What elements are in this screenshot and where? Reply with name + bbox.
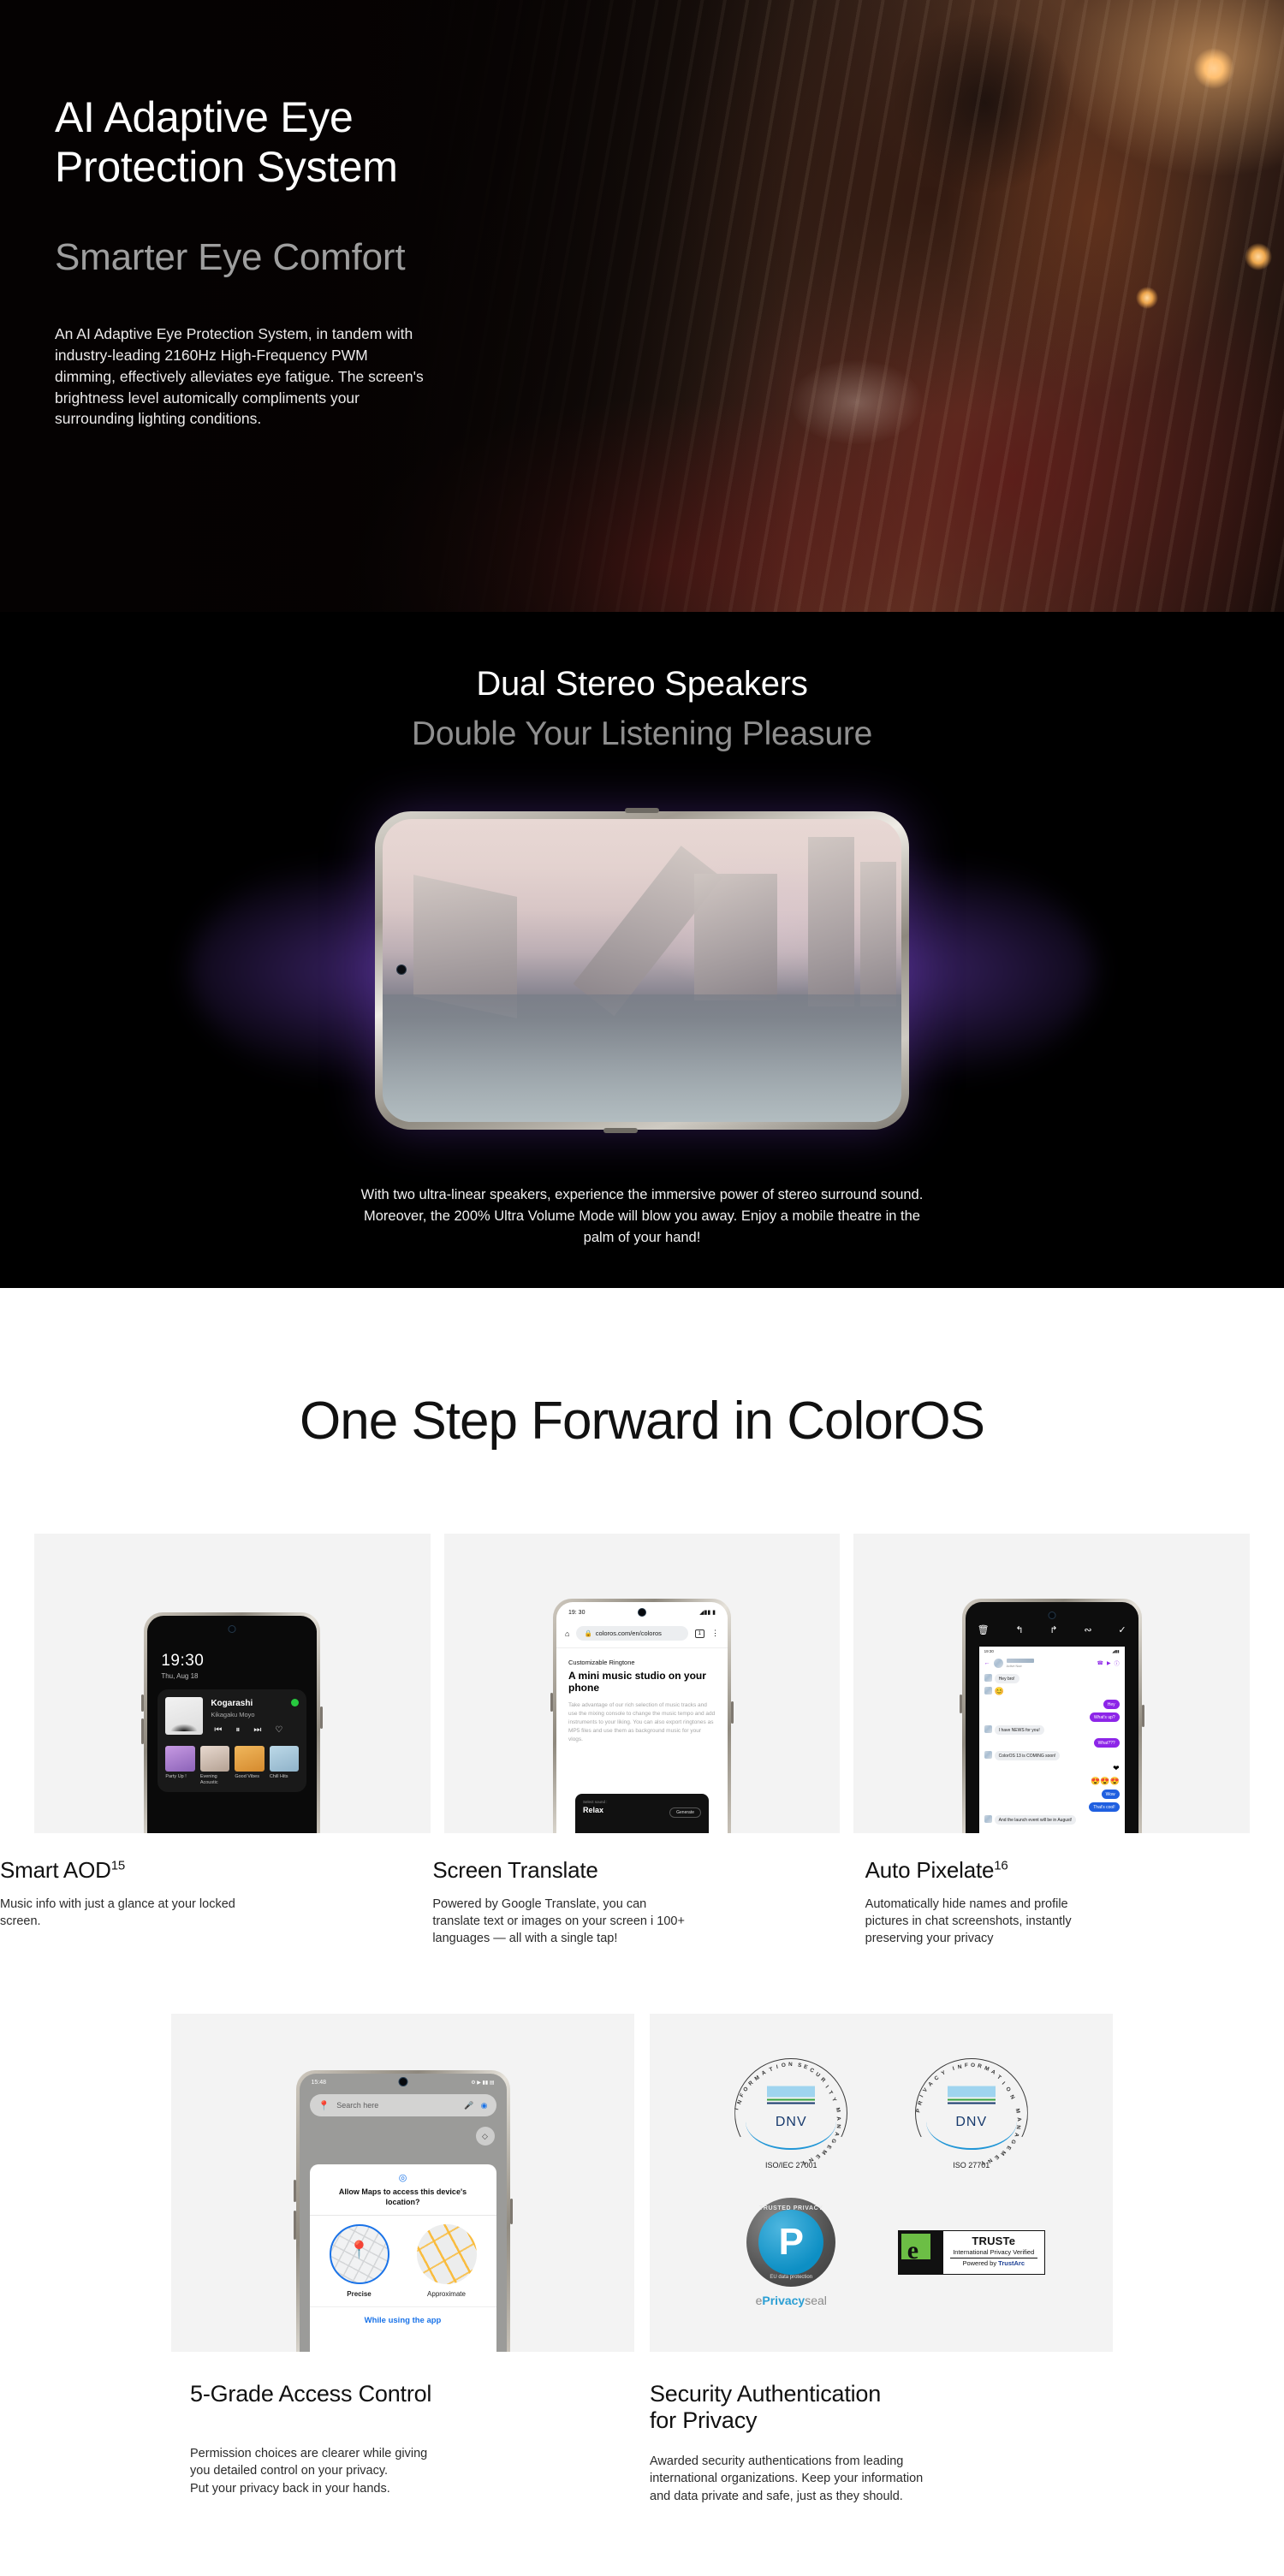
aod-phone-mockup: 19:30 Thu, Aug 18 Kogarashi Kikagaku Moy… xyxy=(144,1612,320,1833)
caption-auto-pixelate: Auto Pixelate16 Automatically hide names… xyxy=(865,1857,1284,1947)
browser-toolbar[interactable]: ⌂ 🔒 coloros.com/en/coloros 1 ⋮ xyxy=(556,1623,728,1647)
playlist-tile[interactable]: Good Vibes xyxy=(235,1746,265,1786)
phone-volume-button xyxy=(141,1718,144,1744)
account-avatar-icon[interactable]: ◉ xyxy=(481,2101,488,2110)
phone-side-button xyxy=(294,2180,296,2202)
dnv-wordmark: DNV xyxy=(955,2115,987,2130)
dnv-standard-label: ISO/IEC 27001 xyxy=(765,2161,817,2169)
delete-icon[interactable]: 🗑 xyxy=(978,1624,990,1635)
caption-footnote-marker: 15 xyxy=(111,1858,125,1873)
speakers-phone-stage xyxy=(0,791,1284,1150)
next-track-icon[interactable]: ⏭ xyxy=(253,1725,261,1735)
screenshot-editor-toolbar[interactable]: 🗑 ↰ ↱ ∾ ✓ xyxy=(966,1624,1138,1635)
powered-label: Powered by xyxy=(962,2259,998,2267)
speakers-subheading: Double Your Listening Pleasure xyxy=(0,715,1284,753)
aod-phone-screen: 19:30 Thu, Aug 18 Kogarashi Kikagaku Moy… xyxy=(147,1616,317,1833)
contact-name-block: Active Now xyxy=(1007,1659,1094,1668)
ringtone-panel[interactable]: Select sound : Relax Generate xyxy=(575,1794,709,1833)
feature-card-smart-aod[interactable]: 19:30 Thu, Aug 18 Kogarashi Kikagaku Moy… xyxy=(34,1534,431,1833)
playlist-label: Good Vibes xyxy=(235,1774,265,1780)
feature-card-row-top: 19:30 Thu, Aug 18 Kogarashi Kikagaku Moy… xyxy=(0,1534,1284,1833)
badge-ring xyxy=(734,2058,847,2168)
chat-message-row: ❤ xyxy=(984,1764,1120,1773)
caption-text: Awarded security authentications from le… xyxy=(650,2453,1113,2505)
game-water-reflection xyxy=(383,994,901,1122)
phone-side-button xyxy=(141,1695,144,1712)
front-camera-icon xyxy=(638,1608,646,1617)
map-layers-icon[interactable]: ◇ xyxy=(476,2127,495,2146)
url-text: coloros.com/en/coloros xyxy=(596,1629,662,1637)
caption-access-control: 5-Grade Access Control Permission choice… xyxy=(171,2381,634,2505)
favorite-heart-icon[interactable]: ♡ xyxy=(275,1725,282,1735)
previous-track-icon[interactable]: ⏮ xyxy=(214,1725,222,1735)
badge-eprivacy-seal: TRUSTED PRIVACY P EU data protection ePr… xyxy=(735,2198,847,2307)
status-icons: ◢▮▮ ▮ xyxy=(699,1609,716,1616)
dnv-standard-label: ISO 27701 xyxy=(953,2161,990,2169)
truste-subtitle: International Privacy Verified xyxy=(943,2248,1044,2256)
eprivacy-letter-p-icon: P xyxy=(746,2223,835,2261)
caption-text: Automatically hide names and profile pic… xyxy=(865,1896,1274,1947)
undo-icon[interactable]: ↰ xyxy=(1015,1624,1023,1635)
chat-message-row: And the launch event will be in August! xyxy=(984,1815,1120,1825)
chat-bubble-incoming: Hey bro! xyxy=(995,1674,1019,1683)
maps-search-bar[interactable]: 📍 Search here 🎤 ◉ xyxy=(310,2094,496,2116)
phone-screen-game xyxy=(383,819,901,1122)
maps-phone-screen: 15:48 ⚙ ▶ ▮▮ ▤ 📍 Search here 🎤 ◉ ◇ ◎ All… xyxy=(300,2074,507,2352)
chat-bubble-incoming: ColorOS 13 is COMING soon! xyxy=(995,1751,1061,1760)
powered-brand: TrustArc xyxy=(998,2259,1025,2267)
eye-protection-copy: AI Adaptive Eye Protection System Smarte… xyxy=(55,92,586,430)
truste-e-logo-icon xyxy=(899,2231,943,2274)
punch-hole-camera-icon xyxy=(396,965,407,975)
page-paragraph: Take advantage of our rich selection of … xyxy=(568,1701,716,1744)
truste-text-block: TRUSTe International Privacy Verified Po… xyxy=(943,2231,1044,2274)
chat-message-row: 😍😍😍 xyxy=(984,1777,1120,1786)
eprivacy-name-bold: Privacy xyxy=(762,2294,805,2307)
status-bar: 19: 30 ◢▮▮ ▮ xyxy=(556,1602,728,1623)
caption-text: Powered by Google Translate, you can tra… xyxy=(432,1896,841,1947)
certification-badge-grid: DNV ISO/IEC 27001 I N F O R M A T I O N xyxy=(650,2014,1113,2352)
option-label: Approximate xyxy=(409,2290,484,2298)
feature-card-screen-translate[interactable]: 19: 30 ◢▮▮ ▮ ⌂ 🔒 coloros.com/en/coloros … xyxy=(444,1534,841,1833)
ringtone-panel-label: Select sound : xyxy=(583,1800,701,1804)
caption-screen-translate: Screen Translate Powered by Google Trans… xyxy=(432,1857,851,1947)
sender-avatar-blurred xyxy=(984,1725,992,1733)
landscape-phone-mockup xyxy=(375,811,909,1130)
approximate-map-preview xyxy=(417,2224,477,2284)
badge-dnv-iso-27701: DNV ISO 27701 P R I V A C Y I N F O xyxy=(915,2058,1028,2168)
aod-music-widget[interactable]: Kogarashi Kikagaku Moyo ⏮ ⏸ ⏭ ♡ xyxy=(158,1689,306,1792)
badge-dnv-iso-27001: DNV ISO/IEC 27001 I N F O R M A T I O N xyxy=(734,2058,847,2168)
phone-button-top xyxy=(625,808,659,813)
eprivacy-name-suffix: seal xyxy=(805,2294,827,2307)
chat-message-row: Wow xyxy=(984,1790,1120,1799)
page-kicker: Customizable Ringtone xyxy=(568,1659,716,1666)
page-headline: A mini music studio on your phone xyxy=(568,1670,716,1695)
chat-status-time: 19:30 xyxy=(984,1649,994,1653)
phone-power-button xyxy=(320,1706,323,1729)
option-precise[interactable]: 📍 Precise xyxy=(322,2224,397,2298)
precise-map-preview: 📍 xyxy=(330,2224,389,2284)
video-call-icon[interactable]: ▶ xyxy=(1107,1660,1111,1666)
playlist-label: Evening Acoustic xyxy=(200,1774,230,1786)
aod-playback-controls[interactable]: ⏮ ⏸ ⏭ ♡ xyxy=(214,1725,282,1735)
home-icon[interactable]: ⌂ xyxy=(565,1629,569,1638)
speakers-body: With two ultra-linear speakers, experien… xyxy=(231,1184,1053,1248)
aod-date: Thu, Aug 18 xyxy=(161,1672,198,1680)
chat-bubble-outgoing: Wow xyxy=(1102,1790,1120,1799)
playlist-label: Party Up ! xyxy=(165,1774,195,1780)
confirm-check-icon[interactable]: ✓ xyxy=(1118,1624,1126,1635)
while-using-app-button[interactable]: While using the app xyxy=(310,2306,496,2334)
info-icon[interactable]: ⓘ xyxy=(1115,1659,1120,1667)
badge-truste: TRUSTe International Privacy Verified Po… xyxy=(898,2230,1045,2275)
share-icon[interactable]: ∾ xyxy=(1084,1624,1091,1635)
playlist-thumbnail xyxy=(200,1746,230,1772)
front-camera-icon xyxy=(398,2077,407,2086)
coloros-title: One Step Forward in ColorOS xyxy=(0,1288,1284,1534)
option-approximate[interactable]: Approximate xyxy=(409,2224,484,2298)
caption-title: Smart AOD15 xyxy=(0,1857,408,1884)
chat-status-bar: 19:30 ◢▮▮ xyxy=(979,1647,1125,1656)
eye-protection-heading: AI Adaptive Eye Protection System xyxy=(55,92,586,192)
pixelate-phone-screen: 🗑 ↰ ↱ ∾ ✓ 19:30 ◢▮▮ ← xyxy=(966,1602,1138,1833)
phone-button-bottom xyxy=(603,1128,638,1133)
search-input[interactable]: Search here xyxy=(336,2101,457,2110)
caption-title: 5-Grade Access Control xyxy=(171,2381,634,2407)
aod-track-artist: Kikagaku Moyo xyxy=(211,1711,254,1718)
speakers-heading: Dual Stereo Speakers xyxy=(0,612,1284,703)
phone-side-button xyxy=(960,1695,962,1713)
eprivacy-wordmark: ePrivacyseal xyxy=(735,2294,847,2307)
feature-card-access-control[interactable]: 15:48 ⚙ ▶ ▮▮ ▤ 📍 Search here 🎤 ◉ ◇ ◎ All… xyxy=(171,2014,634,2352)
caption-title-text: Smart AOD xyxy=(0,1857,111,1883)
translate-phone-mockup: 19: 30 ◢▮▮ ▮ ⌂ 🔒 coloros.com/en/coloros … xyxy=(553,1599,731,1833)
chat-emoji: 😍😍😍 xyxy=(1091,1777,1120,1786)
coloros-section: One Step Forward in ColorOS 19:30 Thu, A… xyxy=(0,1288,1284,2573)
truste-title: TRUSTe xyxy=(943,2235,1044,2247)
dnv-logo-mark-icon xyxy=(948,2086,996,2104)
tab-count-icon[interactable]: 1 xyxy=(695,1629,704,1638)
contact-avatar-blurred xyxy=(994,1659,1003,1668)
status-time: 15:48 xyxy=(312,2080,327,2086)
feature-card-security-authentication[interactable]: DNV ISO/IEC 27001 I N F O R M A T I O N xyxy=(650,2014,1113,2352)
caption-text: Music info with just a glance at your lo… xyxy=(0,1896,408,1930)
sender-avatar-blurred xyxy=(984,1687,992,1695)
truste-powered-by: Powered by TrustArc xyxy=(950,2258,1037,2267)
phone-power-button xyxy=(1142,1705,1144,1727)
chat-bubble-outgoing: Hey xyxy=(1103,1700,1120,1709)
sender-avatar-blurred xyxy=(984,1674,992,1682)
eye-protection-section: AI Adaptive Eye Protection System Smarte… xyxy=(0,0,1284,612)
chat-status-icons: ◢▮▮ xyxy=(1112,1649,1119,1654)
aod-time: 19:30 xyxy=(161,1652,204,1671)
front-camera-icon xyxy=(229,1625,236,1633)
chat-bubble-incoming: And the launch event will be in August! xyxy=(995,1815,1077,1825)
chat-bubble-outgoing: What's up? xyxy=(1090,1712,1120,1722)
maps-phone-mockup: 15:48 ⚙ ▶ ▮▮ ▤ 📍 Search here 🎤 ◉ ◇ ◎ All… xyxy=(296,2070,510,2352)
eprivacy-seal-graphic: TRUSTED PRIVACY P EU data protection xyxy=(746,2198,835,2287)
caption-title: Security Authentication for Privacy xyxy=(650,2381,1113,2434)
overflow-menu-icon[interactable]: ⋮ xyxy=(711,1629,719,1638)
playlist-tile[interactable]: Chill Hits xyxy=(270,1746,300,1786)
dnv-wordmark: DNV xyxy=(776,2115,807,2130)
chat-emoji: ❤ xyxy=(1113,1764,1120,1773)
chat-message-row: What's up? xyxy=(984,1712,1120,1722)
chat-message-row: I have NEWS for you! xyxy=(984,1725,1120,1735)
caption-smart-aod: Smart AOD15 Music info with just a glanc… xyxy=(0,1857,419,1947)
caption-title: Screen Translate xyxy=(432,1857,841,1884)
chat-bubble-outgoing: That's cool! xyxy=(1089,1802,1119,1812)
eye-protection-subheading: Smarter Eye Comfort xyxy=(55,236,586,279)
phone-power-button xyxy=(510,2199,513,2224)
front-camera-icon xyxy=(1048,1611,1055,1619)
playlist-tile[interactable]: Party Up ! xyxy=(165,1746,195,1786)
aod-track-title: Kogarashi xyxy=(211,1699,253,1708)
generate-button[interactable]: Generate xyxy=(669,1807,701,1818)
location-pin-icon: ◎ xyxy=(310,2164,496,2183)
option-label: Precise xyxy=(322,2290,397,2298)
call-icon[interactable]: ☎ xyxy=(1097,1660,1103,1666)
dnv-logo-mark-icon xyxy=(767,2086,815,2104)
caption-security-authentication: Security Authentication for Privacy Awar… xyxy=(650,2381,1113,2505)
caption-footnote-marker: 16 xyxy=(994,1858,1008,1873)
phone-volume-button xyxy=(294,2211,296,2240)
chat-screenshot: 19:30 ◢▮▮ ← Active Now ☎ ▶ xyxy=(979,1647,1125,1833)
chat-message-row: What??? xyxy=(984,1738,1120,1748)
chat-message-row: Hey bro! xyxy=(984,1674,1120,1683)
playlist-thumbnail xyxy=(235,1746,265,1772)
eye-protection-body: An AI Adaptive Eye Protection System, in… xyxy=(55,323,517,430)
chat-bubble-outgoing: What??? xyxy=(1094,1738,1120,1748)
microphone-icon[interactable]: 🎤 xyxy=(464,2101,473,2110)
chat-message-row: ColorOS 13 is COMING soon! xyxy=(984,1751,1120,1760)
precise-marker-icon: 📍 xyxy=(348,2240,370,2261)
page-content: Customizable Ringtone A mini music studi… xyxy=(556,1647,728,1744)
chat-message-row: 😊 xyxy=(984,1687,1120,1696)
permission-dialog-title: Allow Maps to access this device's locat… xyxy=(310,2183,496,2215)
eprivacy-top-text: TRUSTED PRIVACY xyxy=(746,2205,835,2211)
permission-options: 📍 Precise Approximate xyxy=(310,2216,496,2303)
redo-icon[interactable]: ↱ xyxy=(1049,1624,1057,1635)
feature-caption-row-bottom: 5-Grade Access Control Permission choice… xyxy=(0,2381,1284,2505)
feature-card-auto-pixelate[interactable]: 🗑 ↰ ↱ ∾ ✓ 19:30 ◢▮▮ ← xyxy=(853,1534,1250,1833)
aod-playlist-tiles: Party Up ! Evening Acoustic Good Vibes xyxy=(165,1746,299,1786)
feature-caption-row-top: Smart AOD15 Music info with just a glanc… xyxy=(0,1857,1284,1947)
chat-header: ← Active Now ☎ ▶ ⓘ xyxy=(979,1656,1125,1671)
chat-message-row: Hey xyxy=(984,1700,1120,1709)
badge-ring xyxy=(915,2058,1028,2168)
contact-name-blurred xyxy=(1007,1659,1034,1663)
now-playing-indicator-icon xyxy=(291,1699,299,1706)
caption-text: Permission choices are clearer while giv… xyxy=(171,2445,634,2497)
caption-title-text: Screen Translate xyxy=(432,1857,597,1883)
lock-icon: 🔒 xyxy=(584,1629,591,1637)
caption-title: Auto Pixelate16 xyxy=(865,1857,1274,1884)
address-bar[interactable]: 🔒 coloros.com/en/coloros xyxy=(576,1626,687,1641)
phone-power-button xyxy=(731,1701,734,1724)
playlist-thumbnail xyxy=(165,1746,195,1772)
playlist-label: Chill Hits xyxy=(270,1774,300,1780)
status-icons: ⚙ ▶ ▮▮ ▤ xyxy=(471,2080,494,2086)
eprivacy-bottom-text: EU data protection xyxy=(746,2275,835,2280)
feature-card-row-bottom: 15:48 ⚙ ▶ ▮▮ ▤ 📍 Search here 🎤 ◉ ◇ ◎ All… xyxy=(0,2014,1284,2352)
pixelate-phone-mockup: 🗑 ↰ ↱ ∾ ✓ 19:30 ◢▮▮ ← xyxy=(962,1599,1142,1833)
chat-emoji: 😊 xyxy=(995,1687,1004,1696)
status-bar: 15:48 ⚙ ▶ ▮▮ ▤ xyxy=(300,2074,507,2091)
translate-phone-screen: 19: 30 ◢▮▮ ▮ ⌂ 🔒 coloros.com/en/coloros … xyxy=(556,1602,728,1833)
contact-status: Active Now xyxy=(1007,1665,1094,1668)
chat-message-list: Hey bro! 😊 Hey What's up? I have NEWS fo… xyxy=(979,1671,1125,1831)
dual-stereo-speakers-section: Dual Stereo Speakers Double Your Listeni… xyxy=(0,612,1284,1288)
back-arrow-icon[interactable]: ← xyxy=(984,1660,990,1666)
status-time: 19: 30 xyxy=(568,1610,585,1616)
map-pin-icon: 📍 xyxy=(318,2100,330,2111)
pause-icon[interactable]: ⏸ xyxy=(235,1725,240,1735)
chat-message-row: That's cool! xyxy=(984,1802,1120,1812)
chat-bubble-incoming: I have NEWS for you! xyxy=(995,1725,1044,1735)
sender-avatar-blurred xyxy=(984,1751,992,1759)
location-permission-dialog: ◎ Allow Maps to access this device's loc… xyxy=(310,2164,496,2352)
caption-title-text: Auto Pixelate xyxy=(865,1857,995,1883)
playlist-tile[interactable]: Evening Acoustic xyxy=(200,1746,230,1786)
playlist-thumbnail xyxy=(270,1746,300,1772)
sender-avatar-blurred xyxy=(984,1815,992,1823)
phone-side-button xyxy=(550,1693,553,1712)
album-art xyxy=(165,1697,203,1735)
